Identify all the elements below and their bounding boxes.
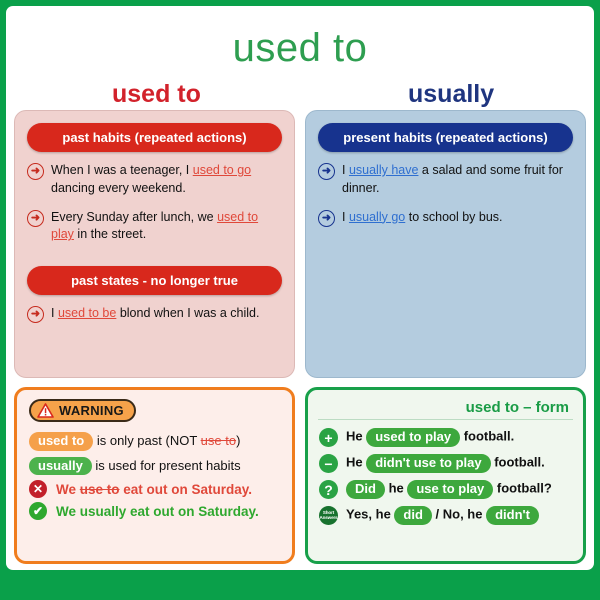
example-text: I used to be blond when I was a child. [51, 305, 284, 323]
left-column-title: used to [112, 80, 201, 109]
right-column-title: usually [408, 80, 494, 109]
warning-box: WARNING used to is only past (NOT use to… [14, 387, 295, 564]
used-to-panel: past habits (repeated actions) ➜ When I … [14, 110, 295, 378]
present-habits-heading: present habits (repeated actions) [318, 123, 573, 152]
arrow-right-icon: ➜ [27, 306, 44, 323]
chip-verb-phrase: didn't use to play [366, 454, 490, 472]
question-circle-icon: ? [319, 480, 338, 499]
example-text: When I was a teenager, I used to go danc… [51, 162, 284, 198]
example-text: I usually go to school by bus. [342, 209, 575, 227]
warning-badge: WARNING [29, 399, 136, 422]
form-row-negative: − He didn't use to play football. [319, 454, 573, 473]
form-row-affirmative: + He used to play football. [319, 428, 573, 447]
warning-badge-label: WARNING [59, 403, 124, 418]
list-item: ➜ When I was a teenager, I used to go da… [27, 162, 284, 198]
usually-panel: present habits (repeated actions) ➜ I us… [305, 110, 586, 378]
form-sentence: Did he use to play football? [346, 480, 552, 498]
minus-circle-icon: − [319, 454, 338, 473]
warning-rule-1: used to is only past (NOT use to) [29, 431, 282, 451]
short-answers-icon: Short Answers [319, 506, 338, 525]
highlight-phrase: used to go [193, 163, 251, 177]
chip-answer-negative: didn't [486, 506, 539, 524]
infographic-root: used to used to usually past habits (rep… [0, 0, 600, 600]
past-habits-heading: past habits (repeated actions) [27, 123, 282, 152]
highlight-phrase: usually go [349, 210, 405, 224]
content-card: used to used to usually past habits (rep… [6, 6, 594, 570]
form-sentence: He didn't use to play football. [346, 454, 545, 472]
comparison-row: past habits (repeated actions) ➜ When I … [14, 110, 586, 378]
chip-verb-phrase: used to play [366, 428, 460, 446]
bottom-row: WARNING used to is only past (NOT use to… [14, 387, 586, 564]
list-item: ➜ Every Sunday after lunch, we used to p… [27, 209, 284, 245]
arrow-right-icon: ➜ [27, 210, 44, 227]
chip-auxiliary: Did [346, 480, 385, 498]
list-item: ➜ I usually have a salad and some fruit … [318, 162, 575, 198]
form-sentence: Yes, he did / No, he didn't [346, 506, 539, 524]
warning-rule-2: usually is used for present habits [29, 456, 282, 476]
strikethrough-text: use to [201, 433, 236, 448]
arrow-right-icon: ➜ [27, 163, 44, 180]
warning-triangle-icon [37, 403, 54, 418]
list-item: ➜ I used to be blond when I was a child. [27, 305, 284, 323]
correct-text: We usually eat out on Saturday. [56, 504, 259, 519]
cross-circle-icon: ✕ [29, 480, 47, 498]
check-circle-icon: ✔ [29, 502, 47, 520]
form-title: used to – form [318, 399, 569, 416]
chip-answer-positive: did [394, 506, 432, 524]
example-text: I usually have a salad and some fruit fo… [342, 162, 575, 198]
list-item: ➜ I usually go to school by bus. [318, 209, 575, 227]
header: used to used to usually [14, 10, 586, 110]
arrow-right-icon: ➜ [318, 210, 335, 227]
chip-used-to: used to [29, 432, 93, 450]
past-states-heading: past states - no longer true [27, 266, 282, 295]
correct-example: ✔ We usually eat out on Saturday. [29, 502, 282, 520]
divider [318, 419, 573, 420]
form-row-short-answers: Short Answers Yes, he did / No, he didn'… [319, 506, 573, 525]
incorrect-example: ✕ We use to eat out on Saturday. [29, 480, 282, 498]
highlight-phrase: usually have [349, 163, 419, 177]
form-sentence: He used to play football. [346, 428, 514, 446]
highlight-phrase: used to be [58, 306, 116, 320]
strikethrough-text: use to [80, 482, 120, 497]
example-text: Every Sunday after lunch, we used to pla… [51, 209, 284, 245]
incorrect-text: We use to eat out on Saturday. [56, 482, 252, 497]
chip-usually: usually [29, 457, 92, 475]
arrow-right-icon: ➜ [318, 163, 335, 180]
chip-verb-phrase: use to play [407, 480, 493, 498]
form-row-question: ? Did he use to play football? [319, 480, 573, 499]
page-title: used to [14, 26, 586, 71]
plus-circle-icon: + [319, 428, 338, 447]
form-box: used to – form + He used to play footbal… [305, 387, 586, 564]
